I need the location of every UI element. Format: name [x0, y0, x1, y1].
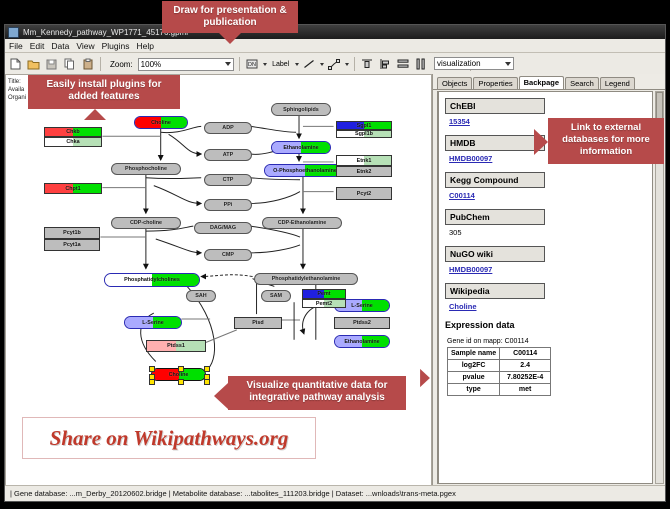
tab-legend[interactable]: Legend: [600, 77, 635, 90]
node-label: SAM: [270, 293, 282, 299]
line-dropdown-icon[interactable]: [320, 63, 324, 66]
node-label: Ethanolamine: [283, 145, 318, 151]
zoom-label: Zoom:: [110, 60, 133, 69]
table-row: Sample nameC00114: [448, 348, 551, 360]
metabolite-node[interactable]: Ethanolamine: [271, 141, 331, 154]
database-header: Kegg Compound: [445, 172, 545, 188]
database-link[interactable]: C00114: [449, 191, 652, 200]
node-label: Sphingolipids: [283, 107, 319, 113]
share-banner: Share on Wikipathways.org: [22, 417, 316, 459]
gene-node[interactable]: Etnk2: [336, 166, 392, 177]
database-link[interactable]: Choline: [449, 302, 652, 311]
metabolite-node[interactable]: DAG/MAG: [194, 222, 252, 234]
callout-link-arrow: [534, 129, 548, 155]
node-label: Pemt: [317, 291, 330, 297]
chevron-down-icon: [225, 62, 231, 66]
node-label: Chpt1: [65, 186, 80, 192]
node-label: SAH: [195, 293, 206, 299]
save-icon[interactable]: [44, 57, 59, 72]
menu-help[interactable]: Help: [137, 41, 154, 51]
toolbar-separator-3: [354, 57, 355, 71]
node-label: Pisd: [252, 320, 263, 326]
menubar: File Edit Data View Plugins Help: [5, 39, 665, 53]
gene-node[interactable]: Sgpl1: [336, 121, 392, 130]
app-icon: [8, 27, 19, 38]
database-header: PubChem: [445, 209, 545, 225]
callout-plugins-arrow: [84, 109, 106, 120]
callout-draw-arrow: [219, 33, 241, 44]
table-cell-label: pvalue: [448, 372, 500, 384]
node-label: L-Serine: [142, 320, 164, 326]
interaction-dropdown-icon[interactable]: [345, 63, 349, 66]
menu-edit[interactable]: Edit: [30, 41, 45, 51]
callout-draw: Draw for presentation & publication: [162, 1, 298, 33]
node-label: Pcyt1a: [63, 242, 80, 248]
toolbar-separator-2: [239, 57, 240, 71]
database-header: ChEBI: [445, 98, 545, 114]
callout-link: Link to external databases for more info…: [548, 118, 664, 164]
gene-node[interactable]: Pcyt1b: [44, 227, 100, 239]
label-tool[interactable]: Label: [270, 57, 292, 72]
align-left-icon[interactable]: [378, 57, 393, 72]
metabolite-node[interactable]: SAM: [261, 290, 291, 302]
table-cell-label: log2FC: [448, 360, 500, 372]
database-link[interactable]: HMDB00097: [449, 265, 652, 274]
tab-search[interactable]: Search: [565, 77, 599, 90]
toolbar-separator: [100, 57, 101, 71]
gene-node[interactable]: Ptdss2: [334, 317, 390, 329]
metabolite-node[interactable]: L-Serine: [124, 316, 182, 329]
side-panel-tabs: Objects Properties Backpage Search Legen…: [433, 74, 665, 90]
metabolite-node[interactable]: ATP: [204, 149, 252, 161]
metabolite-node[interactable]: Sphingolipids: [271, 103, 331, 116]
copy-icon[interactable]: [62, 57, 77, 72]
datanode-dropdown-icon[interactable]: [263, 63, 267, 66]
tab-properties[interactable]: Properties: [473, 77, 517, 90]
database-header: NuGO wiki: [445, 246, 545, 262]
node-label: Pemt2: [316, 301, 332, 307]
table-cell-value: 7.80252E-4: [500, 372, 551, 384]
node-label: Sgpl1: [357, 123, 372, 129]
table-row: log2FC2.4: [448, 360, 551, 372]
paste-icon[interactable]: [80, 57, 95, 72]
menu-view[interactable]: View: [76, 41, 94, 51]
window-titlebar: Mm_Kennedy_pathway_WP1771_45176.gpml: [5, 25, 665, 39]
gene-id-line: Gene id on mapp: C00114: [447, 338, 652, 345]
distribute-horizontal-icon[interactable]: [414, 57, 429, 72]
gene-node[interactable]: Pemt2: [302, 299, 346, 308]
selection-handle[interactable]: [204, 379, 210, 385]
metabolite-node[interactable]: ADP: [204, 122, 252, 134]
metabolite-node[interactable]: Ethanolamine: [334, 335, 390, 348]
datanode-icon[interactable]: DN: [245, 57, 260, 72]
label-dropdown-icon[interactable]: [295, 63, 299, 66]
metabolite-node[interactable]: PPi: [204, 199, 252, 211]
node-label: Phosphatidylethanolamine: [272, 276, 341, 282]
tab-objects[interactable]: Objects: [437, 77, 472, 90]
node-label: DAG/MAG: [210, 225, 236, 231]
node-label: CDP-choline: [130, 220, 162, 226]
status-text: | Gene database: ...m_Derby_20120602.bri…: [10, 489, 456, 498]
node-label: Phosphatidylcholines: [124, 277, 180, 283]
database-value: 305: [449, 228, 652, 237]
node-label: Choline: [169, 372, 189, 378]
node-label: CMP: [222, 252, 234, 258]
visualization-combo[interactable]: visualization: [434, 57, 514, 70]
node-label: ADP: [222, 125, 233, 131]
gene-node[interactable]: Pcyt1a: [44, 239, 100, 251]
metabolite-node[interactable]: SAH: [186, 290, 216, 302]
zoom-value: 100%: [141, 60, 161, 69]
open-folder-icon[interactable]: [26, 57, 41, 72]
metabolite-node[interactable]: Phosphatidylcholines: [104, 273, 200, 287]
table-cell-value: C00114: [500, 348, 551, 360]
database-header: Wikipedia: [445, 283, 545, 299]
node-label: Etnk1: [357, 158, 372, 164]
menu-data[interactable]: Data: [51, 41, 69, 51]
node-label: L-Serine: [351, 303, 373, 309]
metabolite-node[interactable]: CMP: [204, 249, 252, 261]
selection-handle[interactable]: [178, 379, 184, 385]
metabolite-node[interactable]: O-Phosphoethanolamine: [264, 164, 346, 177]
gene-node[interactable]: Pisd: [234, 317, 282, 329]
status-bar: | Gene database: ...m_Derby_20120602.bri…: [5, 485, 665, 501]
selection-handle[interactable]: [149, 379, 155, 385]
table-cell-label: Sample name: [448, 348, 500, 360]
node-label: Pcyt2: [357, 191, 371, 197]
node-label: Ptdss2: [353, 320, 371, 326]
new-file-icon[interactable]: [8, 57, 23, 72]
menu-plugins[interactable]: Plugins: [102, 41, 130, 51]
node-label: Pcyt1b: [63, 230, 81, 236]
node-label: Choline: [151, 120, 171, 126]
gene-node[interactable]: Etnk1: [336, 155, 392, 166]
visualization-value: visualization: [437, 59, 481, 68]
callout-visualize-arrow: [214, 383, 228, 409]
gene-node[interactable]: Pemt: [302, 289, 346, 299]
distribute-vertical-icon[interactable]: [396, 57, 411, 72]
screenshot-root: Mm_Kennedy_pathway_WP1771_45176.gpml Fil…: [0, 0, 670, 509]
metabolite-node[interactable]: CDP-Ethanolamine: [262, 217, 342, 229]
metabolite-node[interactable]: Choline: [134, 116, 188, 129]
gene-node[interactable]: Sgpl1b: [336, 130, 392, 138]
table-row: typemet: [448, 384, 551, 396]
expression-data-title: Expression data: [445, 320, 652, 330]
node-label: Etnk2: [357, 169, 372, 175]
table-cell-label: type: [448, 384, 500, 396]
node-label: Sgpl1b: [355, 131, 373, 137]
selection-handle[interactable]: [204, 366, 210, 372]
svg-text:DN: DN: [248, 62, 256, 68]
node-label: Ptdss1: [167, 343, 185, 349]
zoom-combo[interactable]: 100%: [138, 58, 234, 71]
share-text: Share on Wikipathways.org: [50, 426, 289, 451]
chevron-down-icon-2: [505, 62, 511, 66]
metabolite-node[interactable]: Choline: [151, 368, 206, 381]
gene-node[interactable]: Ptdss1: [146, 340, 206, 352]
table-cell-value: 2.4: [500, 360, 551, 372]
node-label: PPi: [224, 202, 233, 208]
node-label: CDP-Ethanolamine: [278, 220, 327, 226]
table-cell-value: met: [500, 384, 551, 396]
node-label: Chkb: [66, 129, 79, 135]
node-label: Chka: [66, 139, 79, 145]
node-label: Phosphocholine: [125, 166, 167, 172]
interaction-icon[interactable]: [327, 57, 342, 72]
node-label: Ethanolamine: [344, 339, 379, 345]
expression-table-body: Sample nameC00114log2FC2.4pvalue7.80252E…: [448, 348, 551, 396]
align-top-icon[interactable]: [360, 57, 375, 72]
tab-backpage[interactable]: Backpage: [519, 76, 564, 90]
database-header: HMDB: [445, 135, 545, 151]
metabolite-node[interactable]: Phosphatidylethanolamine: [254, 273, 358, 285]
gene-node[interactable]: Chkb: [44, 127, 102, 137]
metabolite-node[interactable]: CDP-choline: [111, 217, 181, 229]
callout-plugins: Easily install plugins for added feature…: [28, 75, 180, 109]
node-label: O-Phosphoethanolamine: [273, 168, 337, 174]
menu-file[interactable]: File: [9, 41, 23, 51]
metabolite-node[interactable]: CTP: [204, 174, 252, 186]
gene-node[interactable]: Pcyt2: [336, 187, 392, 200]
metabolite-node[interactable]: Phosphocholine: [111, 163, 181, 175]
toolbar: Zoom: 100% DN Label: [5, 53, 665, 76]
table-row: pvalue7.80252E-4: [448, 372, 551, 384]
node-label: CTP: [223, 177, 234, 183]
expression-table: Sample nameC00114log2FC2.4pvalue7.80252E…: [447, 347, 551, 396]
selection-handle[interactable]: [149, 366, 155, 372]
callout-visualize: Visualize quantitative data for integrat…: [228, 376, 406, 410]
node-label: ATP: [223, 152, 233, 158]
callout-expression-arrow: [420, 369, 430, 387]
gene-node[interactable]: Chka: [44, 137, 102, 147]
line-icon[interactable]: [302, 57, 317, 72]
gene-node[interactable]: Chpt1: [44, 183, 102, 194]
